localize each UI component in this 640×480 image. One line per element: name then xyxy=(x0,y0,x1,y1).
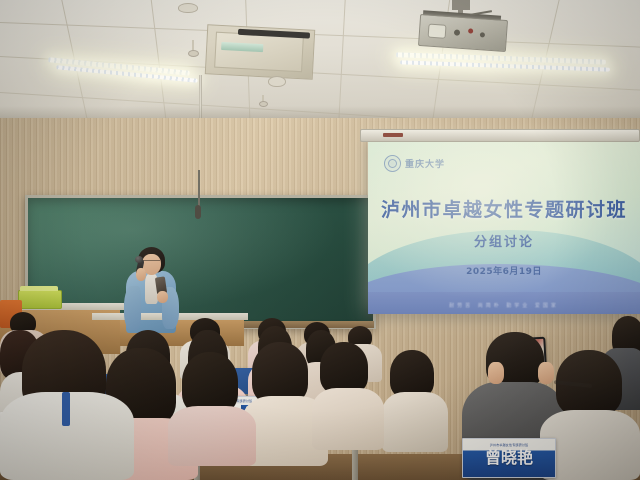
speaker-glasses xyxy=(143,260,160,265)
photo-scene: 重庆大学 泸州市卓越女性专题研讨班 分组讨论 2025年6月19日 耐劳苦 尚简… xyxy=(0,0,640,480)
speaker-left-arm xyxy=(124,286,141,330)
university-logo: 重庆大学 xyxy=(384,155,445,172)
slide-title: 泸州市卓越女性专题研讨班 xyxy=(368,195,640,222)
green-storage-box xyxy=(18,290,62,309)
name-placard: 泸州市卓越女性专题研讨班 曾晓艳 xyxy=(462,438,556,478)
ceiling xyxy=(0,0,640,132)
smoke-detector xyxy=(178,3,198,13)
hand xyxy=(538,362,554,384)
ceiling-ac-cassette xyxy=(205,24,315,80)
slide-motto: 耐劳苦 尚简朴 勤学业 爱国家 xyxy=(368,302,640,309)
projection-screen: 重庆大学 泸州市卓越女性专题研讨班 分组讨论 2025年6月19日 耐劳苦 尚简… xyxy=(368,139,640,314)
presentation-slide: 重庆大学 泸州市卓越女性专题研讨班 分组讨论 2025年6月19日 耐劳苦 尚简… xyxy=(368,139,640,314)
projection-screen-housing xyxy=(360,129,640,142)
screen-housing-tab xyxy=(383,133,403,137)
university-wordmark: 重庆大学 xyxy=(405,157,445,170)
slide-date: 2025年6月19日 xyxy=(368,264,640,277)
smoke-detector-2 xyxy=(268,76,286,87)
microphone-head xyxy=(135,256,143,263)
speaker-right-hand xyxy=(157,291,168,303)
ceiling-projector xyxy=(418,14,508,52)
university-seal-icon xyxy=(384,155,401,172)
hand xyxy=(488,362,504,384)
lanyard xyxy=(62,392,70,426)
speaker-left-hand xyxy=(136,268,146,281)
placard-name: 曾晓艳 xyxy=(463,450,555,477)
slide-subtitle: 分组讨论 xyxy=(368,231,640,250)
